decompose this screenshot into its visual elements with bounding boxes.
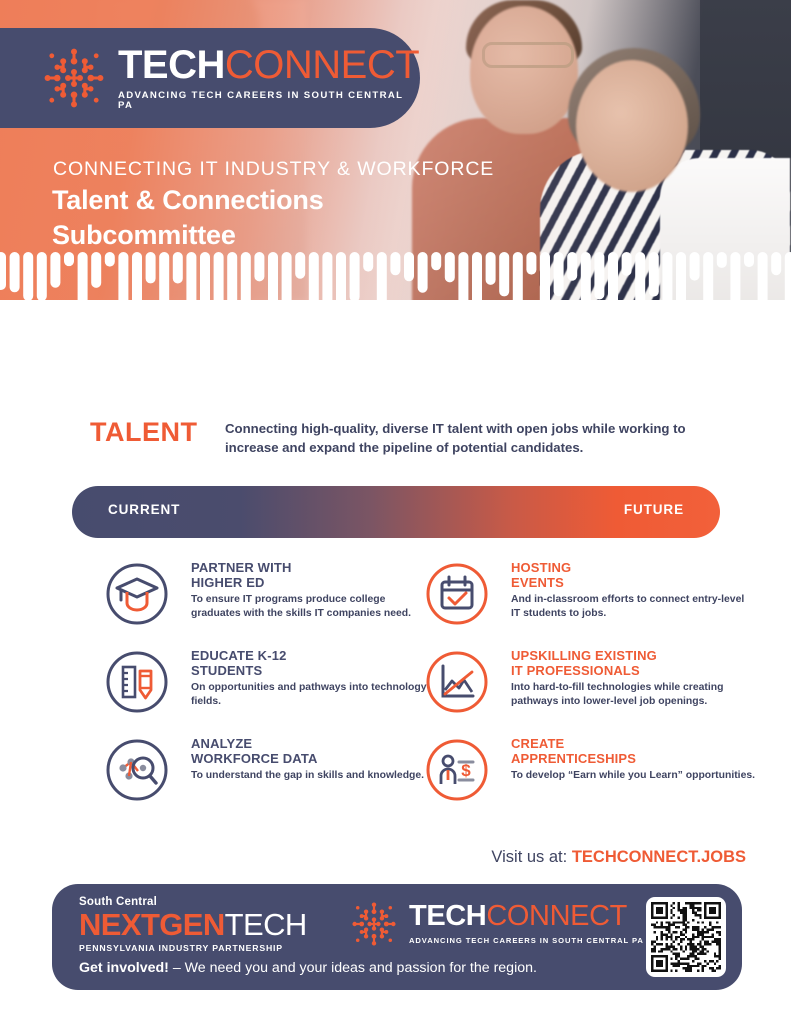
hero-title-line1: Talent & Connections bbox=[52, 183, 324, 218]
footer-logo-tagline: ADVANCING TECH CAREERS IN SOUTH CENTRAL … bbox=[409, 936, 644, 945]
initiative-heading-line2: IT PROFESSIONALS bbox=[511, 663, 640, 678]
initiative-item: ANALYZE WORKFORCE DATA To understand the… bbox=[105, 736, 435, 824]
initiative-item: $ CREATE APPRENTICESHIPS To develop “Ear… bbox=[425, 736, 755, 824]
nextgentech-word-nextgen: NEXTGEN bbox=[79, 907, 225, 942]
initiative-heading-line2: STUDENTS bbox=[191, 663, 262, 678]
initiative-heading-line2: APPRENTICESHIPS bbox=[511, 751, 636, 766]
svg-text:$: $ bbox=[461, 761, 471, 780]
nextgentech-subline: PENNSYLVANIA INDUSTRY PARTNERSHIP bbox=[79, 943, 307, 953]
talent-kicker: TALENT bbox=[90, 417, 197, 448]
footer-techconnect-wordmark: TECHCONNECT ADVANCING TECH CAREERS IN SO… bbox=[409, 902, 644, 945]
graduation-cap-icon bbox=[105, 562, 169, 626]
initiative-heading-line1: ANALYZE bbox=[191, 736, 252, 751]
footer-logo-word-tech: TECH bbox=[409, 900, 486, 932]
footer-logo-word-connect: CONNECT bbox=[486, 900, 627, 932]
initiative-item: EDUCATE K-12 STUDENTS On opportunities a… bbox=[105, 648, 435, 736]
logo-tagline: ADVANCING TECH CAREERS IN SOUTH CENTRAL … bbox=[118, 91, 420, 110]
nextgentech-logo: South Central NEXTGENTECH PENNSYLVANIA I… bbox=[79, 896, 307, 953]
calendar-check-icon bbox=[425, 562, 489, 626]
initiative-heading-line2: WORKFORCE DATA bbox=[191, 751, 318, 766]
network-magnifier-icon bbox=[105, 738, 169, 802]
initiative-body: On opportunities and pathways into techn… bbox=[191, 681, 435, 709]
current-future-gradient-bar: CURRENT FUTURE bbox=[72, 486, 720, 538]
ruler-pencil-icon bbox=[105, 650, 169, 714]
initiative-heading-line1: CREATE bbox=[511, 736, 564, 751]
qr-code[interactable] bbox=[646, 897, 726, 977]
person-dollar-icon: $ bbox=[425, 738, 489, 802]
initiative-item: PARTNER WITH HIGHER ED To ensure IT prog… bbox=[105, 560, 435, 648]
initiative-heading-line1: PARTNER WITH bbox=[191, 560, 292, 575]
qr-code-graphic bbox=[651, 902, 721, 972]
initiative-item: HOSTING EVENTS And in-classroom efforts … bbox=[425, 560, 755, 648]
hero-eyebrow: CONNECTING IT INDUSTRY & WORKFORCE bbox=[53, 158, 494, 181]
initiative-body: And in-classroom efforts to connect entr… bbox=[511, 593, 755, 621]
future-column: HOSTING EVENTS And in-classroom efforts … bbox=[425, 560, 755, 824]
hero-banner: TECHCONNECT ADVANCING TECH CAREERS IN SO… bbox=[0, 0, 791, 300]
initiative-item: UPSKILLING EXISTING IT PROFESSIONALS Int… bbox=[425, 648, 755, 736]
hero-title-line2: Subcommittee bbox=[52, 218, 324, 253]
visit-line: Visit us at: TECHCONNECT.JOBS bbox=[491, 848, 746, 867]
hero-title: Talent & Connections Subcommittee bbox=[52, 183, 324, 252]
visit-url[interactable]: TECHCONNECT.JOBS bbox=[572, 848, 746, 866]
logo-word-tech: TECH bbox=[118, 43, 225, 87]
visit-prefix: Visit us at: bbox=[491, 848, 571, 866]
logo-word-connect: CONNECT bbox=[225, 43, 419, 87]
nextgentech-word-tech: TECH bbox=[225, 907, 307, 942]
footer-cta: Get involved! – We need you and your ide… bbox=[79, 960, 537, 976]
initiative-heading-line1: HOSTING bbox=[511, 560, 571, 575]
current-label: CURRENT bbox=[108, 502, 180, 517]
footer-card: South Central NEXTGENTECH PENNSYLVANIA I… bbox=[52, 884, 742, 990]
footer-cta-rest: – We need you and your ideas and passion… bbox=[169, 960, 537, 976]
talent-description: Connecting high-quality, diverse IT tale… bbox=[225, 419, 725, 457]
initiative-body: To understand the gap in skills and know… bbox=[191, 769, 435, 783]
current-column: PARTNER WITH HIGHER ED To ensure IT prog… bbox=[105, 560, 435, 824]
talent-intro: TALENT Connecting high-quality, diverse … bbox=[0, 415, 791, 475]
header-logo-wordmark: TECHCONNECT ADVANCING TECH CAREERS IN SO… bbox=[118, 45, 420, 110]
initiative-heading-line1: EDUCATE K-12 bbox=[191, 648, 286, 663]
initiative-body: Into hard-to-fill technologies while cre… bbox=[511, 681, 755, 709]
initiative-body: To develop “Earn while you Learn” opport… bbox=[511, 769, 755, 783]
future-label: FUTURE bbox=[624, 502, 684, 517]
flyer-page: TECHCONNECT ADVANCING TECH CAREERS IN SO… bbox=[0, 0, 791, 1024]
initiative-body: To ensure IT programs produce college gr… bbox=[191, 593, 435, 621]
line-chart-icon bbox=[425, 650, 489, 714]
header-logo-pill: TECHCONNECT ADVANCING TECH CAREERS IN SO… bbox=[0, 28, 420, 128]
initiative-heading-line2: HIGHER ED bbox=[191, 575, 265, 590]
techconnect-circuit-logo bbox=[352, 902, 396, 946]
techconnect-circuit-logo bbox=[44, 48, 104, 108]
initiative-heading-line1: UPSKILLING EXISTING bbox=[511, 648, 657, 663]
initiative-heading-line2: EVENTS bbox=[511, 575, 564, 590]
footer-cta-bold: Get involved! bbox=[79, 960, 169, 976]
